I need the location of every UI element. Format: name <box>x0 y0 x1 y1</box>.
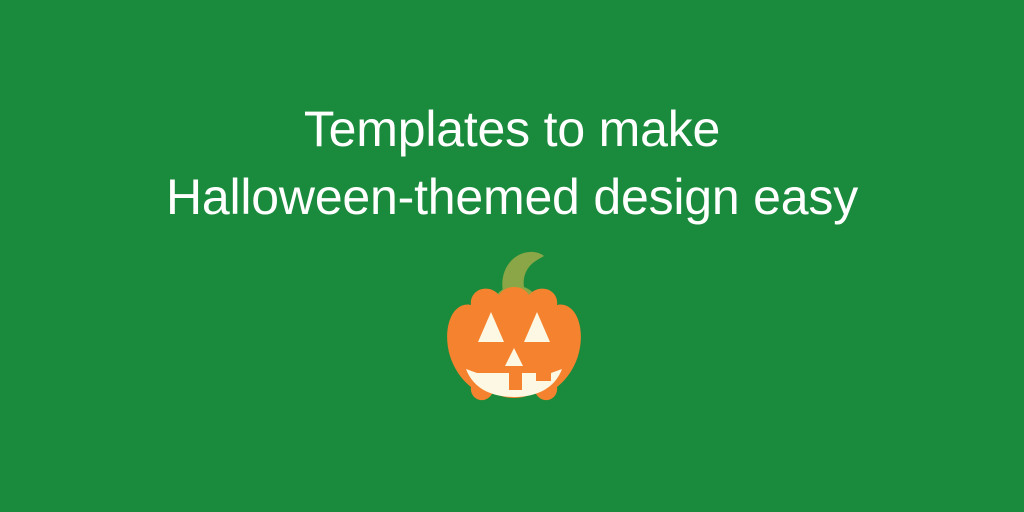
pumpkin-stem-shape <box>502 252 544 292</box>
headline-line-2: Halloween-themed design easy <box>0 163 1024 231</box>
headline: Templates to make Halloween-themed desig… <box>0 95 1024 231</box>
pumpkin-illustration <box>441 245 587 410</box>
headline-line-1: Templates to make <box>0 95 1024 163</box>
halloween-banner: Templates to make Halloween-themed desig… <box>0 0 1024 512</box>
jack-o-lantern-icon <box>441 245 587 410</box>
pumpkin-body-shape <box>447 287 581 400</box>
